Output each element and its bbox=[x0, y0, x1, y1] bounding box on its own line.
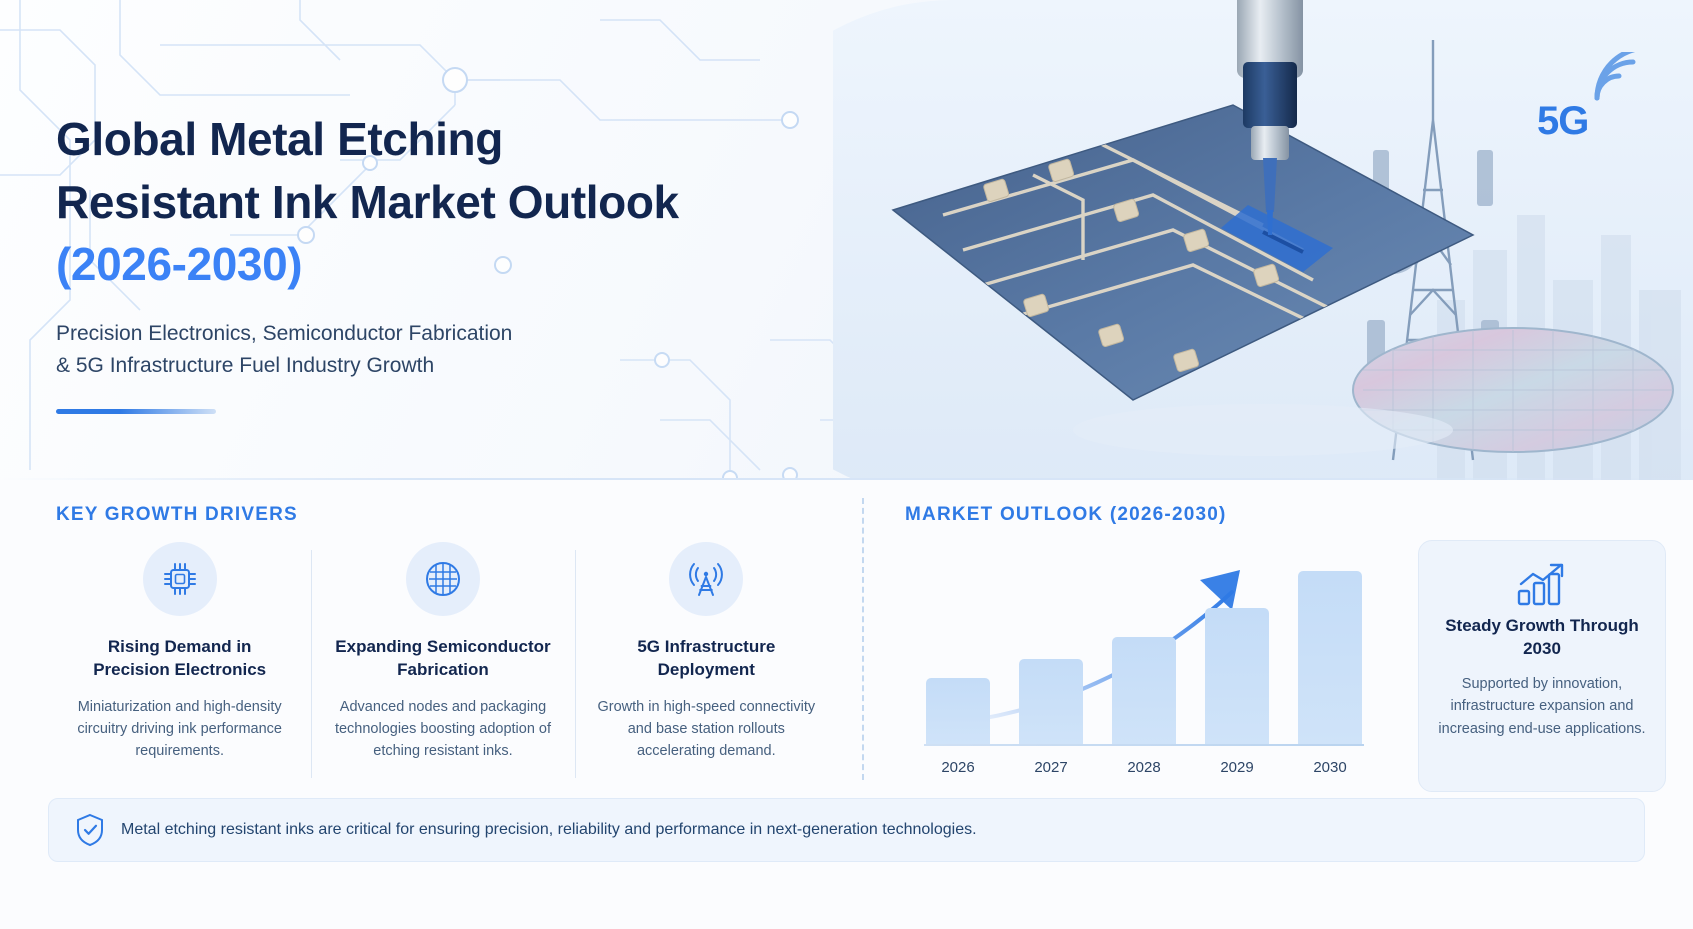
semiconductor-wafer-icon bbox=[423, 559, 463, 599]
bar-column bbox=[1017, 554, 1085, 744]
bar-2030 bbox=[1298, 571, 1362, 744]
steady-growth-title: Steady Growth Through 2030 bbox=[1437, 615, 1647, 661]
page-title-line1: Global Metal Etching bbox=[56, 108, 856, 171]
market-outlook-chart: 2026 2027 2028 2029 2030 bbox=[900, 542, 1380, 782]
market-outlook-heading: MARKET OUTLOOK (2026-2030) bbox=[905, 504, 1227, 526]
bar-2029 bbox=[1205, 608, 1269, 744]
x-tick-label: 2029 bbox=[1203, 759, 1271, 776]
bar-2028 bbox=[1112, 637, 1176, 744]
driver-title: 5G Infrastructure Deployment bbox=[596, 636, 816, 682]
footer-text: Metal etching resistant inks are critica… bbox=[121, 821, 977, 839]
bar-2027 bbox=[1019, 659, 1083, 744]
driver-title: Rising Demand in Precision Electronics bbox=[70, 636, 290, 682]
hero-subtitle-line2: & 5G Infrastructure Fuel Industry Growth bbox=[56, 350, 856, 382]
bar-2026 bbox=[926, 678, 990, 744]
hero-section: Global Metal Etching Resistant Ink Marke… bbox=[0, 0, 1693, 512]
accent-divider-bar bbox=[56, 409, 216, 414]
hero-subtitle-line1: Precision Electronics, Semiconductor Fab… bbox=[56, 318, 856, 350]
steady-growth-card: Steady Growth Through 2030 Supported by … bbox=[1418, 540, 1666, 792]
driver-card: 5G Infrastructure Deployment Growth in h… bbox=[575, 542, 838, 762]
hero-title-block: Global Metal Etching Resistant Ink Marke… bbox=[56, 108, 856, 414]
5g-badge: 5G bbox=[1535, 52, 1655, 148]
5g-badge-label: 5G bbox=[1537, 99, 1588, 144]
bar-series bbox=[924, 554, 1364, 744]
x-tick-label: 2026 bbox=[924, 759, 992, 776]
section-dashed-divider bbox=[862, 498, 864, 780]
driver-card: Expanding Semiconductor Fabrication Adva… bbox=[311, 542, 574, 762]
page-title-years: (2026-2030) bbox=[56, 233, 856, 296]
chart-x-axis bbox=[924, 744, 1364, 746]
key-growth-drivers-heading: KEY GROWTH DRIVERS bbox=[56, 504, 298, 526]
shield-check-icon bbox=[75, 813, 105, 847]
microchip-icon bbox=[160, 559, 200, 599]
driver-description: Miniaturization and high-density circuit… bbox=[66, 696, 293, 762]
x-tick-label: 2030 bbox=[1296, 759, 1364, 776]
cell-tower-icon bbox=[686, 559, 726, 599]
steady-growth-description: Supported by innovation, infrastructure … bbox=[1437, 673, 1647, 740]
driver-description: Advanced nodes and packaging technologie… bbox=[329, 696, 556, 762]
chart-x-tick-labels: 2026 2027 2028 2029 2030 bbox=[924, 759, 1364, 776]
page-title-line2: Resistant Ink Market Outlook bbox=[56, 171, 856, 234]
driver-icon-wrapper bbox=[669, 542, 743, 616]
driver-icon-wrapper bbox=[143, 542, 217, 616]
growth-chart-arrow-icon bbox=[1515, 561, 1569, 609]
hero-subtitle: Precision Electronics, Semiconductor Fab… bbox=[56, 318, 856, 382]
driver-description: Growth in high-speed connectivity and ba… bbox=[593, 696, 820, 762]
lower-section: KEY GROWTH DRIVERS MARKET OUTLOOK (2026-… bbox=[0, 480, 1693, 929]
footer-banner: Metal etching resistant inks are critica… bbox=[48, 798, 1645, 862]
driver-card: Rising Demand in Precision Electronics M… bbox=[48, 542, 311, 762]
bar-column bbox=[1203, 554, 1271, 744]
x-tick-label: 2027 bbox=[1017, 759, 1085, 776]
driver-icon-wrapper bbox=[406, 542, 480, 616]
bar-column bbox=[1110, 554, 1178, 744]
bar-column bbox=[1296, 554, 1364, 744]
x-tick-label: 2028 bbox=[1110, 759, 1178, 776]
growth-drivers-list: Rising Demand in Precision Electronics M… bbox=[48, 542, 838, 762]
infographic-page: Global Metal Etching Resistant Ink Marke… bbox=[0, 0, 1693, 929]
driver-title: Expanding Semiconductor Fabrication bbox=[333, 636, 553, 682]
bar-column bbox=[924, 554, 992, 744]
